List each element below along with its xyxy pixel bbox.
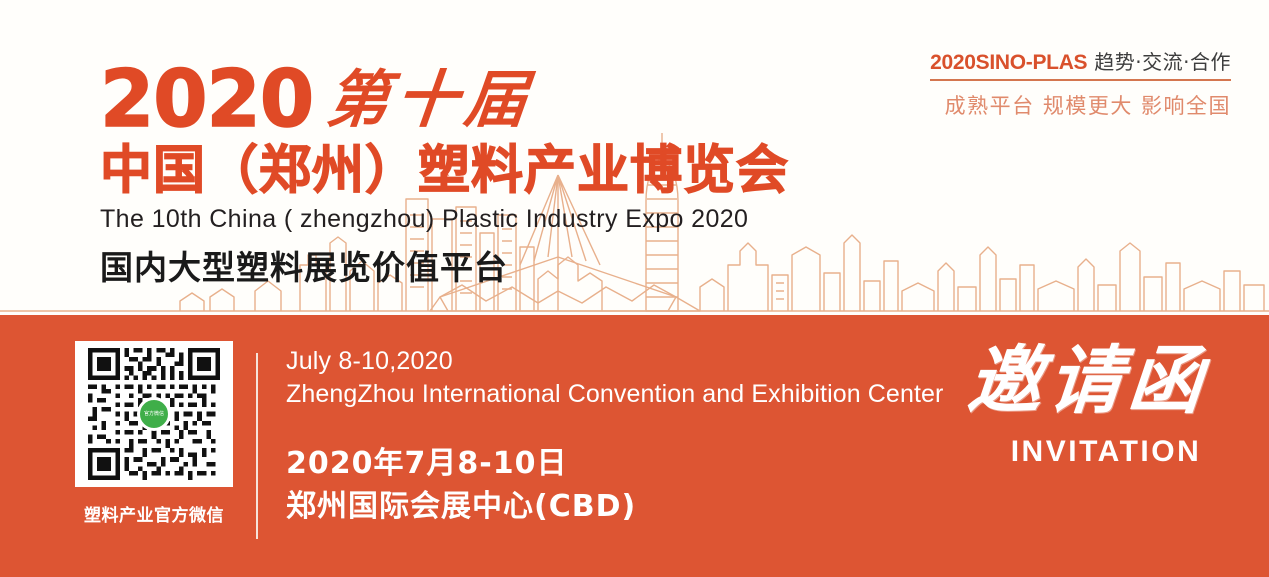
vertical-divider xyxy=(256,353,258,539)
expo-invitation-banner: 2020 第十届 中国（郑州）塑料产业博览会 The 10th China ( … xyxy=(0,0,1269,577)
event-details-block: July 8-10,2020 ZhengZhou International C… xyxy=(286,345,943,529)
expo-edition-calligraphy: 第十届 xyxy=(324,69,538,131)
event-date-en: July 8-10,2020 xyxy=(286,345,943,377)
title-primary-row: 2020 第十届 xyxy=(100,56,789,136)
slogan-secondary-line: 成熟平台 规模更大 影响全国 xyxy=(930,90,1231,120)
expo-title-en: The 10th China ( zhengzhou) Plastic Indu… xyxy=(100,204,789,234)
qr-logo-label: 官方微信 xyxy=(144,411,164,417)
qr-code-frame[interactable]: 官方微信 xyxy=(75,341,233,487)
banner-info-band: 官方微信 塑料产业官方微信 July 8-10,2020 ZhengZhou I… xyxy=(0,315,1269,577)
wechat-account-logo-icon: 官方微信 xyxy=(137,397,171,431)
expo-year: 2020 xyxy=(100,64,313,136)
expo-title-cn: 中国（郑州）塑料产业博览会 xyxy=(100,142,789,200)
slogan-keywords-cn: 趋势·交流·合作 xyxy=(1094,50,1231,74)
headline-block: 2020 第十届 中国（郑州）塑料产业博览会 The 10th China ( … xyxy=(100,56,789,288)
banner-header-section: 2020 第十届 中国（郑州）塑料产业博览会 The 10th China ( … xyxy=(0,0,1269,315)
qr-code-caption: 塑料产业官方微信 xyxy=(75,501,233,526)
qr-code-block: 官方微信 塑料产业官方微信 xyxy=(75,341,233,526)
slogan-primary-line: 2020SINO-PLAS趋势·交流·合作 xyxy=(930,46,1231,81)
expo-tagline-cn: 国内大型塑料展览价值平台 xyxy=(100,248,789,288)
slogan-block: 2020SINO-PLAS趋势·交流·合作 成熟平台 规模更大 影响全国 xyxy=(930,46,1231,120)
invitation-block: 邀请函 INVITATION xyxy=(953,333,1223,469)
event-venue-cn: 郑州国际会展中心(CBD) xyxy=(286,485,943,529)
slogan-code-en: 2020SINO-PLAS xyxy=(930,51,1087,74)
event-date-cn: 2020年7月8-10日 xyxy=(286,443,943,485)
event-venue-en: ZhengZhou International Convention and E… xyxy=(286,377,943,411)
invitation-label-en: INVITATION xyxy=(989,435,1223,469)
invitation-calligraphy-cn: 邀请函 xyxy=(949,333,1227,429)
